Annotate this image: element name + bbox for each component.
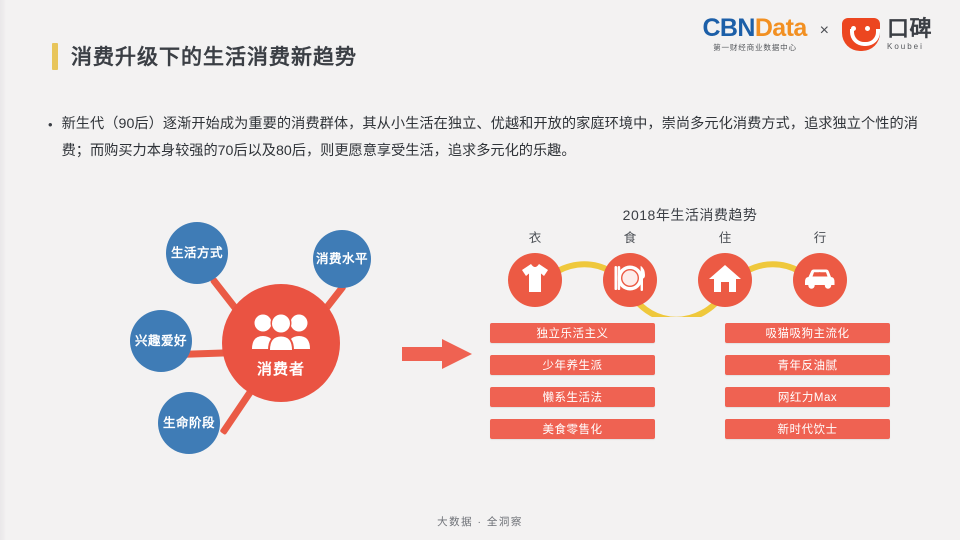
bullet-marker: • xyxy=(48,111,53,165)
body-bullet: • 新生代（90后）逐渐开始成为重要的消费群体，其从小生活在独立、优越和开放的家… xyxy=(48,111,918,165)
trend-tag[interactable]: 少年养生派 xyxy=(490,355,655,375)
koubei-smiley-icon xyxy=(842,18,880,51)
title-accent-bar xyxy=(52,43,58,70)
footer-tagline: 大数据 · 全洞察 xyxy=(0,514,960,529)
cbndata-wordmark-cbn: CBN xyxy=(702,14,754,42)
title-text: 消费升级下的生活消费新趋势 xyxy=(71,41,357,71)
koubei-name-cn: 口碑 xyxy=(887,18,932,40)
consumer-diagram: 消费者 生活方式 消费水平 兴趣爱好 生命阶段 xyxy=(118,222,408,472)
trend-tag[interactable]: 美食零售化 xyxy=(490,419,655,439)
trend-node-caption-food: 食 xyxy=(603,227,657,246)
slide-canvas: 消费升级下的生活消费新趋势 CBNData 第一财经商业数据中心 × 口碑 Ko… xyxy=(0,0,960,540)
satellite-interests-label: 兴趣爱好 xyxy=(135,333,187,349)
trend-tag[interactable]: 青年反油腻 xyxy=(725,355,890,375)
trend-node-caption-housing: 住 xyxy=(698,227,752,246)
trend-node-transport xyxy=(793,253,847,307)
body-paragraph: 新生代（90后）逐渐开始成为重要的消费群体，其从小生活在独立、优越和开放的家庭环… xyxy=(62,111,918,165)
satellite-life-stage-label: 生命阶段 xyxy=(163,415,215,431)
koubei-logo: 口碑 Koubei xyxy=(842,18,932,51)
trend-tag-columns: 独立乐活主义 少年养生派 懒系生活法 美食零售化 吸猫吸狗主流化 青年反油腻 网… xyxy=(490,323,890,439)
trend-node-housing xyxy=(698,253,752,307)
logo-separator-icon: × xyxy=(818,22,831,46)
trend-panel-title: 2018年生活消费趋势 xyxy=(490,205,890,225)
trend-node-food xyxy=(603,253,657,307)
house-icon xyxy=(708,263,742,298)
trend-node-clothing xyxy=(508,253,562,307)
people-group-icon xyxy=(250,313,312,356)
brand-logo-group: CBNData 第一财经商业数据中心 × 口碑 Koubei xyxy=(702,16,932,52)
car-icon xyxy=(802,266,838,295)
consumer-core-circle: 消费者 xyxy=(222,284,340,402)
cbndata-wordmark: CBNData xyxy=(702,16,806,41)
right-arrow-icon xyxy=(402,337,474,371)
koubei-name-en: Koubei xyxy=(887,43,932,51)
satellite-lifestyle: 生活方式 xyxy=(166,222,228,284)
left-edge-strip xyxy=(0,0,6,540)
trend-node-caption-transport: 行 xyxy=(793,227,847,246)
plate-cutlery-icon xyxy=(612,262,648,299)
trend-tag-column-right: 吸猫吸狗主流化 青年反油腻 网红力Max 新时代饮士 xyxy=(725,323,890,439)
cbndata-subtitle: 第一财经商业数据中心 xyxy=(713,44,797,52)
satellite-spending-level: 消费水平 xyxy=(313,230,371,288)
satellite-interests: 兴趣爱好 xyxy=(130,310,192,372)
trend-tag-column-left: 独立乐活主义 少年养生派 懒系生活法 美食零售化 xyxy=(490,323,655,439)
satellite-lifestyle-label: 生活方式 xyxy=(171,245,223,261)
trend-tag[interactable]: 新时代饮士 xyxy=(725,419,890,439)
cbndata-logo: CBNData 第一财经商业数据中心 xyxy=(702,16,806,52)
koubei-smile xyxy=(850,29,880,46)
satellite-spending-level-label: 消费水平 xyxy=(316,251,368,267)
consumer-core-label: 消费者 xyxy=(257,358,305,379)
dress-icon xyxy=(520,262,550,299)
trend-tag[interactable]: 网红力Max xyxy=(725,387,890,407)
satellite-life-stage: 生命阶段 xyxy=(158,392,220,454)
trend-tag[interactable]: 吸猫吸狗主流化 xyxy=(725,323,890,343)
trend-node-caption-clothing: 衣 xyxy=(508,227,562,246)
trend-tag[interactable]: 独立乐活主义 xyxy=(490,323,655,343)
cbndata-wordmark-data: Data xyxy=(755,14,807,42)
page-title: 消费升级下的生活消费新趋势 xyxy=(52,41,357,71)
trend-panel: 2018年生活消费趋势 衣 食 住 行 xyxy=(490,205,890,450)
koubei-wordmark: 口碑 Koubei xyxy=(887,18,932,51)
trend-tag[interactable]: 懒系生活法 xyxy=(490,387,655,407)
